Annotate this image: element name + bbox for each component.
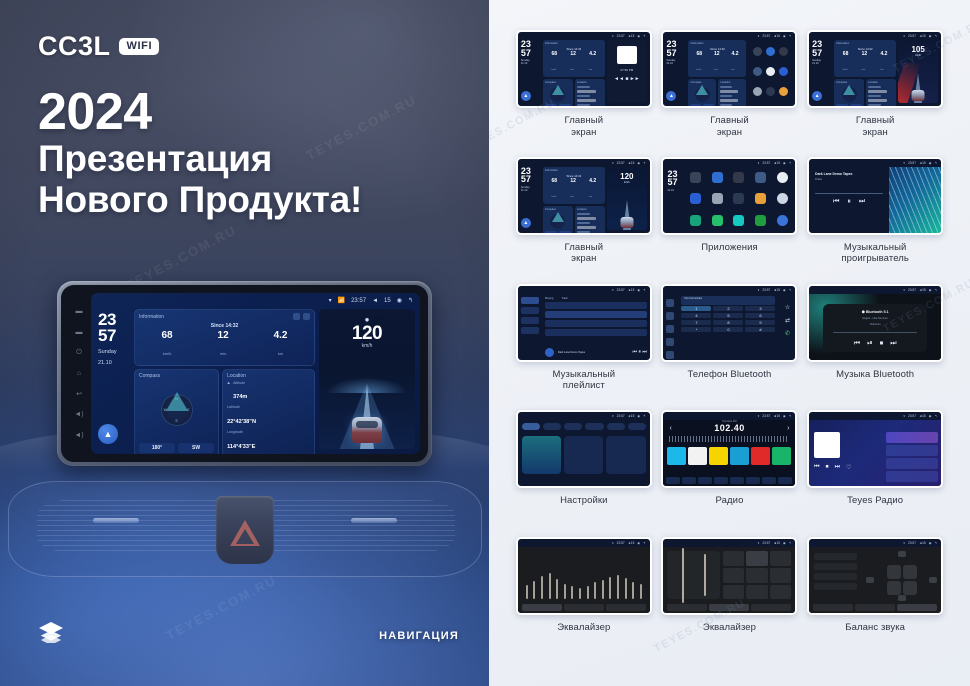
mini-clock-minutes: 57 xyxy=(521,175,541,184)
caption-line1: Настройки xyxy=(560,495,607,506)
home-icon[interactable]: ⌂ xyxy=(77,370,81,377)
app-icon[interactable] xyxy=(690,215,701,226)
mini-status-bar: ▾ 23:57 ◄15 ◉ ↰ xyxy=(663,539,795,547)
phone-actions[interactable]: ☆ ⇄ ✆ xyxy=(779,294,795,360)
equalizer-band[interactable] xyxy=(571,586,573,599)
grid-cell: ▾ 23:57 ◄15 ◉ ↰ 23 57 Sunday21.10 ▲ Info… xyxy=(657,30,803,157)
balance-preset[interactable] xyxy=(814,573,857,580)
screenshot-bluetooth-phone[interactable]: ▾ 23:57 ◄15 ◉ ↰ Not Connected 123456789*… xyxy=(661,284,797,362)
grid-cell: ▾ 23:57 ◄15 ◉ ↰ 23 57 Sunday21.10 ▲ Info… xyxy=(802,30,948,157)
screenshot-home-speed-120[interactable]: ▾ 23:57 ◄15 ◉ ↰ 23 57 Sunday21.10 ▲ Info… xyxy=(516,157,652,235)
audio-tab[interactable] xyxy=(667,604,707,611)
app-icon[interactable] xyxy=(733,172,744,183)
clock-minutes: 57 xyxy=(98,328,130,344)
playlist-category[interactable] xyxy=(521,327,539,334)
volume-down-icon[interactable]: ◄) xyxy=(74,432,83,439)
screenshot-music-playlist[interactable]: ▾ 23:57 ◄15 ◉ ↰ PlayingTrack Dark Lane D… xyxy=(516,284,652,362)
mini-teyes-radio: ⏮ ⏹ ⏭ ♡ xyxy=(809,420,941,486)
audio-tabs[interactable] xyxy=(667,604,791,611)
layers-icon xyxy=(38,621,64,648)
favorite-icon[interactable]: ♡ xyxy=(846,464,851,471)
screenshot-bluetooth-music[interactable]: ▾ 23:57 ◄15 ◉ ↰ ⬢ Bluetooth 5.1 Regret -… xyxy=(807,284,943,362)
display-card[interactable] xyxy=(564,436,603,474)
playback-controls[interactable]: ⏮ ⏸ ⏭ xyxy=(815,198,883,206)
equalizer-band[interactable] xyxy=(609,577,611,599)
caption-line1: Радио xyxy=(716,495,744,506)
compass-readouts: 180° SW xyxy=(139,443,214,453)
power-icon[interactable]: ⏻ xyxy=(76,349,82,356)
balance-preset[interactable] xyxy=(814,583,857,590)
compass-heading: 180° xyxy=(139,443,175,453)
product-logo: CC3L WIFI xyxy=(38,33,159,60)
next-icon[interactable]: ⏭ xyxy=(835,464,840,471)
app-icon[interactable] xyxy=(777,215,788,226)
mini-home: 23 57 Sunday21.10 ▲ Information Since 14… xyxy=(812,40,938,103)
altitude-value: 374m xyxy=(233,394,247,400)
longitude-value: 114°4'33"E xyxy=(227,444,255,450)
mini-stats: 68km/h12min4.2km xyxy=(545,179,603,202)
mini-status-bar: ▾ 23:57 ◄15 ◉ ↰ xyxy=(518,286,650,294)
head-unit-hardware-keys[interactable]: ▬ ▬ ⏻ ⌂ ↩ ◄) ◄) xyxy=(68,295,90,452)
equalizer-band[interactable] xyxy=(602,580,604,599)
navigation-arrow-icon[interactable]: ▲ xyxy=(666,91,676,101)
equalizer-band[interactable] xyxy=(526,585,528,599)
assistant-icon[interactable]: ◉ xyxy=(397,298,402,304)
rear-button[interactable] xyxy=(898,595,906,601)
dialpad-key[interactable]: 0 xyxy=(713,327,743,332)
equalizer-band[interactable] xyxy=(541,576,543,600)
back-icon: ↰ xyxy=(934,34,937,38)
previous-icon[interactable]: ⏮ xyxy=(854,340,860,348)
station-list[interactable] xyxy=(883,420,941,486)
location-title: Location xyxy=(227,373,246,379)
car-model-icon xyxy=(912,90,925,101)
app-icon[interactable] xyxy=(690,193,701,204)
wifi-icon: ▾ xyxy=(612,541,614,545)
audio-tab[interactable] xyxy=(897,604,937,611)
mini-clock-minutes: 57 xyxy=(521,49,541,58)
preset-button[interactable] xyxy=(770,585,792,600)
left-button[interactable] xyxy=(866,577,874,583)
mini-card-title: Compass xyxy=(545,208,571,211)
mini-clock-date: Sunday21.10 xyxy=(812,59,832,65)
app-icon[interactable] xyxy=(755,193,766,204)
mini-status-bar: ▾ 23:57 ◄15 ◉ ↰ xyxy=(809,286,941,294)
balance-preset[interactable] xyxy=(814,563,857,570)
radio-frequency: 102.40 xyxy=(714,423,745,433)
screenshot-home-speed[interactable]: ▾ 23:57 ◄15 ◉ ↰ 23 57 Sunday21.10 ▲ Info… xyxy=(807,30,943,108)
mini-card-title: Information xyxy=(545,42,603,45)
radio-preset[interactable] xyxy=(709,447,728,465)
mini-playlist: PlayingTrack Dark Lane Demo Tapes ⏮ ⏸ ⏭ xyxy=(518,294,650,360)
wifi-icon: ▾ xyxy=(903,34,905,38)
balance-preset[interactable] xyxy=(814,553,857,560)
next-icon[interactable]: ⏭ xyxy=(859,198,865,206)
information-card[interactable]: Information Since 14:32 68 km/h xyxy=(134,309,315,366)
audio-tab[interactable] xyxy=(813,604,853,611)
grid-cell: ▾ 23:57 ◄15 ◉ ↰ Эквалайзер xyxy=(511,537,657,664)
mini-widget-row: Compass Location xyxy=(688,79,746,108)
app-icon[interactable] xyxy=(755,215,766,226)
mini-stats: 68km/h12min4.2km xyxy=(690,52,744,75)
app-icon[interactable] xyxy=(712,193,723,204)
playlist-category[interactable] xyxy=(521,317,539,324)
mini-clock: 2357 21.10 xyxy=(667,170,677,192)
mini-music-player: Dark Lane Demo Tapes Drake ⏮ ⏸ ⏭ xyxy=(809,167,941,233)
information-actions[interactable] xyxy=(293,313,310,320)
screenshot-caption: Телефон Bluetooth xyxy=(688,369,772,381)
equalizer-band[interactable] xyxy=(594,582,596,599)
car-model-icon xyxy=(620,217,633,228)
vent-slider-left[interactable] xyxy=(93,518,139,523)
audio-tab[interactable] xyxy=(606,604,646,611)
mic-key[interactable]: ▬ xyxy=(76,308,83,315)
app-icon[interactable] xyxy=(777,193,788,204)
settings-tabs[interactable] xyxy=(518,420,650,433)
back-icon: ↰ xyxy=(643,288,646,292)
mini-status-bar: ▾ 23:57 ◄15 ◉ ↰ xyxy=(809,159,941,167)
hazard-light-button[interactable] xyxy=(216,496,274,564)
equalizer-band[interactable] xyxy=(617,575,619,599)
playback-controls[interactable]: ⏮ ⏹ ⏭ ♡ xyxy=(814,464,878,471)
expand-icon[interactable] xyxy=(303,313,310,320)
dialpad-key[interactable]: 2 xyxy=(713,306,743,311)
compass-rose: N S E W xyxy=(139,379,214,441)
screenshot-caption: Teyes Радио xyxy=(847,495,903,507)
audio-tab[interactable] xyxy=(564,604,604,611)
grid-cell: ▾ 23:57 ◄15 ◉ ↰ PlayingTrack Dark Lane D… xyxy=(511,284,657,411)
preset-button[interactable] xyxy=(770,568,792,583)
navigation-arrow-icon[interactable]: ▲ xyxy=(521,91,531,101)
mountain-icon: ⛰ xyxy=(227,381,230,386)
station-item[interactable] xyxy=(886,432,938,443)
speaker-rear-left[interactable] xyxy=(887,581,901,595)
wifi-icon: ▾ xyxy=(612,288,614,292)
audio-tabs[interactable] xyxy=(813,604,937,611)
playlist-row[interactable] xyxy=(545,329,647,336)
equalizer-band[interactable] xyxy=(533,581,535,599)
dialpad-key[interactable]: 4 xyxy=(681,313,711,318)
radio-preset[interactable] xyxy=(751,447,770,465)
screenshot-home-apps[interactable]: ▾ 23:57 ◄15 ◉ ↰ 23 57 Sunday21.10 ▲ Info… xyxy=(661,30,797,108)
head-unit-bezel: ▬ ▬ ⏻ ⌂ ↩ ◄) ◄) ▾ 📶 23:57 xyxy=(57,281,432,466)
settings-tab[interactable] xyxy=(564,423,582,430)
equalizer-bands[interactable] xyxy=(526,561,642,599)
mini-time: 23:57 xyxy=(617,541,625,545)
mini-equalizer-simple xyxy=(663,547,795,613)
audio-tab[interactable] xyxy=(751,604,791,611)
equalizer-band[interactable] xyxy=(556,579,558,599)
station-item[interactable] xyxy=(886,471,938,482)
preset-button[interactable] xyxy=(723,568,745,583)
mini-stat: 12min xyxy=(570,52,576,75)
assistant-icon: ◉ xyxy=(783,34,786,38)
screenshot-settings[interactable]: ▾ 23:57 ◄15 ◉ ↰ xyxy=(516,410,652,488)
back-icon[interactable]: ↩ xyxy=(76,391,82,398)
mini-compass-dial xyxy=(550,214,565,229)
play-pause-icon[interactable]: ⏯ xyxy=(867,340,873,348)
mini-stat: 4.2km xyxy=(589,52,596,75)
bluetooth-version: ⬢ Bluetooth 5.1 xyxy=(829,310,921,314)
phone-nav-rail[interactable] xyxy=(663,294,677,360)
mini-stat: 4.2km xyxy=(732,52,739,75)
mini-sound-balance xyxy=(809,547,941,613)
clock-widget: 23 57 Sunday 21.10 xyxy=(98,312,130,366)
settings-tab[interactable] xyxy=(607,423,625,430)
reset-key[interactable]: ▬ xyxy=(76,329,83,336)
assistant-icon: ◉ xyxy=(637,541,640,545)
app-icon[interactable] xyxy=(733,193,744,204)
mini-settings xyxy=(518,420,650,486)
volume-icon: ◄15 xyxy=(628,161,635,165)
app-icon[interactable] xyxy=(712,172,723,183)
radio-preset[interactable] xyxy=(730,447,749,465)
screenshot-equalizer-simple[interactable]: ▾ 23:57 ◄15 ◉ ↰ xyxy=(661,537,797,615)
radio-tuning-scale[interactable] xyxy=(669,436,789,442)
dialpad-key[interactable]: 1 xyxy=(681,306,711,311)
right-button[interactable] xyxy=(929,577,937,583)
app-icon[interactable] xyxy=(712,215,723,226)
stat-unit: min xyxy=(220,351,226,356)
mini-widgets: Information Since 14:32 68km/h12min4.2km… xyxy=(688,40,746,103)
station-item[interactable] xyxy=(886,445,938,456)
equalizer-band[interactable] xyxy=(579,588,581,599)
mini-status-bar: ▾ 23:57 ◄15 ◉ ↰ xyxy=(809,412,941,420)
progress-bar[interactable] xyxy=(815,193,883,195)
mini-widget-row: Compass Location xyxy=(543,206,605,235)
driving-view[interactable]: ✹ 120 km/h xyxy=(319,309,415,449)
equalizer-band[interactable] xyxy=(704,554,706,596)
previous-icon[interactable]: ‹ xyxy=(669,425,671,432)
speaker-rear-right[interactable] xyxy=(903,581,917,595)
logo-model: CC3L xyxy=(38,33,111,60)
app-icon[interactable] xyxy=(777,172,788,183)
app-icon[interactable] xyxy=(733,215,744,226)
equalizer-band[interactable] xyxy=(632,582,634,599)
caption-line2: экран xyxy=(717,127,742,138)
speaker-front-left[interactable] xyxy=(887,565,901,579)
mini-card-title: Compass xyxy=(690,81,714,84)
playlist-row[interactable] xyxy=(545,302,647,309)
equalizer-band[interactable] xyxy=(682,548,684,603)
radio-preset[interactable] xyxy=(667,447,686,465)
latitude-value: 22°42'38"N xyxy=(227,419,256,425)
screenshot-home-music[interactable]: ▾ 23:57 ◄15 ◉ ↰ 23 57 Sunday21.10 ▲ Info… xyxy=(516,30,652,108)
screenshot-teyes-radio[interactable]: ▾ 23:57 ◄15 ◉ ↰ ⏮ ⏹ ⏭ ♡ xyxy=(807,410,943,488)
balance-pad[interactable] xyxy=(887,565,917,595)
more-card[interactable] xyxy=(606,436,645,474)
stop-icon[interactable]: ⏹ xyxy=(826,464,829,471)
playlist-category[interactable] xyxy=(521,307,539,314)
back-icon: ↰ xyxy=(643,161,646,165)
preset-button[interactable] xyxy=(770,551,792,566)
caption-line2: проигрыватель xyxy=(841,253,909,264)
radio-toolbar[interactable] xyxy=(666,477,792,484)
audio-tab[interactable] xyxy=(855,604,895,611)
playback-controls[interactable]: ⏮ ⏯ ⏹ ⏭ xyxy=(829,340,921,348)
app-icon[interactable] xyxy=(690,172,701,183)
mini-stats: 68km/h12min4.2km xyxy=(545,52,603,75)
mini-driving-view: 120km/h xyxy=(607,167,647,230)
settings-tab[interactable] xyxy=(585,423,603,430)
settings-tab[interactable] xyxy=(543,423,561,430)
equalizer-band[interactable] xyxy=(640,584,642,599)
preset-button[interactable] xyxy=(746,551,768,566)
mini-status-bar: ▾ 23:57 ◄15 ◉ ↰ xyxy=(663,286,795,294)
hero-panel: TEYES.COM.RU TEYES.COM.RU TEYES.COM.RU C… xyxy=(0,0,489,686)
caption-line1: Музыкальный xyxy=(553,369,616,380)
volume-icon: ◄ xyxy=(372,298,378,304)
equalizer-band[interactable] xyxy=(625,578,627,599)
dialpad-key[interactable]: 8 xyxy=(713,320,743,325)
dialpad-key[interactable]: 3 xyxy=(745,306,775,311)
navigation-arrow-icon[interactable]: ▲ xyxy=(521,218,531,228)
playback-controls[interactable]: ⏮ ⏸ ⏭ xyxy=(633,349,647,355)
favorite-icon[interactable]: ☆ xyxy=(785,304,790,311)
dialpad-key[interactable]: 5 xyxy=(713,313,743,318)
next-icon[interactable]: ⏭ xyxy=(890,340,896,348)
compass-dial: N S E W xyxy=(161,394,193,426)
playlist-row[interactable] xyxy=(545,311,647,318)
compass-east: E xyxy=(187,408,189,412)
mini-status-bar: ▾ 23:57 ◄15 ◉ ↰ xyxy=(518,412,650,420)
mini-stat: 68km/h xyxy=(551,179,557,202)
location-card[interactable]: Location ⛰ Altitude 374m xyxy=(222,369,315,455)
wifi-card[interactable] xyxy=(522,436,561,474)
audio-tab[interactable] xyxy=(522,604,562,611)
preset-button[interactable] xyxy=(723,585,745,600)
volume-icon: ◄15 xyxy=(919,288,926,292)
previous-icon[interactable]: ⏮ xyxy=(814,464,819,471)
volume-up-icon[interactable]: ◄) xyxy=(74,411,83,418)
mini-app-grid[interactable] xyxy=(685,168,792,230)
dialpad-key[interactable]: # xyxy=(745,327,775,332)
audio-tabs[interactable] xyxy=(522,604,646,611)
visualizer xyxy=(889,167,941,233)
screenshot-music-player[interactable]: ▾ 23:57 ◄15 ◉ ↰ Dark Lane Demo Tapes Dra… xyxy=(807,157,943,235)
mini-compass-dial xyxy=(550,87,565,102)
navigation-arrow-icon[interactable]: ▲ xyxy=(98,424,118,444)
app-icon[interactable] xyxy=(755,172,766,183)
sync-icon[interactable]: ⇄ xyxy=(785,317,790,324)
preset-button[interactable] xyxy=(746,568,768,583)
playlist-category[interactable] xyxy=(521,297,539,304)
caption-line1: Музыкальный xyxy=(844,242,907,253)
back-icon: ↰ xyxy=(643,541,646,545)
mini-time: 23:57 xyxy=(762,34,770,38)
contacts-icon xyxy=(666,312,674,320)
album-art xyxy=(814,432,840,458)
stat-value: 4.2 xyxy=(274,331,288,342)
mini-app-shortcuts xyxy=(748,40,792,103)
compass-south: S xyxy=(175,419,177,423)
equalizer-band[interactable] xyxy=(564,584,566,599)
compass-north: N xyxy=(175,397,178,401)
mini-location-card: Location xyxy=(575,206,605,235)
mini-card-title: Information xyxy=(836,42,894,45)
grid-cell: ▾ 23:57 ◄15 ◉ ↰ 23 57 Sunday21.10 ▲ Info… xyxy=(511,157,657,284)
pause-icon[interactable]: ⏸ xyxy=(847,198,851,206)
assistant-icon: ◉ xyxy=(929,414,932,418)
dialpad-key[interactable]: * xyxy=(681,327,711,332)
wifi-icon: ▾ xyxy=(758,288,760,292)
back-icon: ↰ xyxy=(789,288,792,292)
call-icon[interactable]: ✆ xyxy=(785,330,790,337)
mini-time: 23:57 xyxy=(617,161,625,165)
settings-cards[interactable] xyxy=(518,433,650,477)
head-unit-screen[interactable]: ▾ 📶 23:57 ◄ 15 ◉ ↰ 23 xyxy=(91,293,420,454)
screenshot-radio[interactable]: ▾ 23:57 ◄15 ◉ ↰ Русское FM ‹ 102.40 › xyxy=(661,410,797,488)
radio-preset[interactable] xyxy=(772,447,791,465)
equalizer-band[interactable] xyxy=(549,573,551,600)
mini-clock-minutes: 57 xyxy=(812,49,832,58)
screenshot-caption: Настройки xyxy=(560,495,607,507)
mini-card-title: Compass xyxy=(545,81,571,84)
settings-icon[interactable] xyxy=(293,313,300,320)
back-icon[interactable]: ↰ xyxy=(408,298,413,304)
stop-icon[interactable]: ⏹ xyxy=(880,340,884,348)
navigation-label: НАВИГАЦИЯ xyxy=(379,630,459,642)
screenshot-sound-balance[interactable]: ▾ 23:57 ◄15 ◉ ↰ xyxy=(807,537,943,615)
information-header: Information xyxy=(139,313,310,320)
preset-button[interactable] xyxy=(723,551,745,566)
audio-tab[interactable] xyxy=(709,604,749,611)
mini-speed: 105km/h xyxy=(898,46,938,57)
screenshot-applications[interactable]: ▾ 23:57 ◄15 ◉ ↰ 2357 21.10 xyxy=(661,157,797,235)
volume-icon: ◄15 xyxy=(773,161,780,165)
now-playing: Dark Lane Demo Tapes xyxy=(558,351,585,354)
settings-tab[interactable] xyxy=(628,423,646,430)
bt-track: Regret - Like Summer xyxy=(829,317,921,320)
previous-icon[interactable]: ⏮ xyxy=(833,198,839,206)
station-item[interactable] xyxy=(886,458,938,469)
vent-slider-right[interactable] xyxy=(351,518,397,523)
mini-compass-readouts xyxy=(690,104,714,108)
screenshot-caption: Музыкальныйплейлист xyxy=(553,369,616,392)
compass-card[interactable]: Compass N S E W xyxy=(134,369,219,455)
assistant-icon: ◉ xyxy=(783,414,786,418)
information-stats: 68 km/h 12 min 4.2 xyxy=(139,330,310,362)
screenshot-equalizer-bands[interactable]: ▾ 23:57 ◄15 ◉ ↰ xyxy=(516,537,652,615)
mini-status-bar: ▾ 23:57 ◄15 ◉ ↰ xyxy=(518,159,650,167)
mini-compass-card: Compass xyxy=(543,79,573,108)
dialpad-key[interactable]: 6 xyxy=(745,313,775,318)
wifi-icon: ▾ xyxy=(903,541,905,545)
settings-tab[interactable] xyxy=(522,423,540,430)
equalizer-band[interactable] xyxy=(587,586,589,600)
volume-icon: ◄15 xyxy=(773,34,780,38)
caption-line1: Главный xyxy=(565,242,604,253)
radio-presets[interactable] xyxy=(663,445,795,467)
screenshot-caption: Эквалайзер xyxy=(557,622,610,634)
preset-button[interactable] xyxy=(746,585,768,600)
radio-preset[interactable] xyxy=(688,447,707,465)
dialpad-key[interactable]: 9 xyxy=(745,320,775,325)
speaker-front-right[interactable] xyxy=(903,565,917,579)
volume-icon: ◄15 xyxy=(773,541,780,545)
mini-card-title: Location xyxy=(577,81,603,84)
next-icon[interactable]: › xyxy=(787,425,789,432)
clock-weekday: Sunday xyxy=(98,349,130,356)
air-vent-band xyxy=(8,481,482,577)
volume-icon: ◄15 xyxy=(773,414,780,418)
playlist-row[interactable] xyxy=(545,320,647,327)
dialpad-key[interactable]: 7 xyxy=(681,320,711,325)
navigation-arrow-icon[interactable]: ▲ xyxy=(812,91,822,101)
caption-line2: экран xyxy=(571,253,596,264)
front-button[interactable] xyxy=(898,551,906,557)
wifi-icon: ▾ xyxy=(329,298,332,304)
